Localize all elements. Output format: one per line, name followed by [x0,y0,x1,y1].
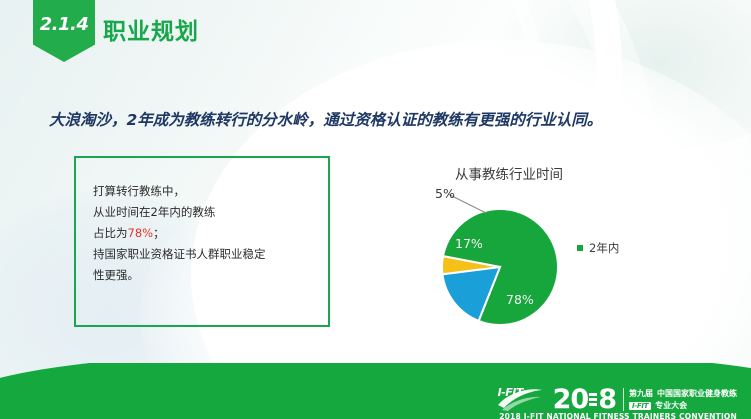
pie-data-label-1: 17% [455,236,483,251]
chart-title: 从事教练行业时间 [455,163,645,183]
footer-year: 20 8 [553,386,616,413]
pie-slices [442,209,558,325]
callout-line-5: 性更强。 [93,265,328,286]
footer-convention-en: 2018 I-FIT NATIONAL FITNESS TRAINERS CON… [499,412,737,419]
page-title: 职业规划 [103,12,199,46]
footer-convention-pill: I-FIT [629,402,651,410]
pie-data-label-0: 78% [506,292,534,307]
footer-convention-suffix: 专业大会 [655,400,687,411]
ifit-wordmark: I-FIT [498,386,523,399]
footer-logo-group: I-FIT 20 8 第九届 中国国家职业健身教练 I-FIT 专业大会 [494,381,737,413]
chart-legend: 2年内 [577,240,619,256]
pie-data-label-2: 5% [435,186,455,201]
footer-convention-row-2: I-FIT 专业大会 [629,400,737,411]
callout-line-3-prefix: 占比为 [93,226,128,240]
legend-swatch-icon [577,245,583,251]
footer-band: I-FIT 20 8 第九届 中国国家职业健身教练 I-FIT 专业大会 201… [0,363,751,419]
callout-text: 打算转行教练中， 从业时间在2年内的教练 占比为78%； 持国家职业资格证书人群… [93,181,328,286]
callout-line-1: 打算转行教练中， [93,181,328,202]
footer-convention-text: 第九届 中国国家职业健身教练 I-FIT 专业大会 [623,388,737,411]
footer-convention-row-1: 第九届 中国国家职业健身教练 [629,388,737,399]
slide-canvas: 2.1.4 职业规划 大浪淘沙，2年成为教练转行的分水岭，通过资格认证的教练有更… [0,0,751,419]
footer-convention-cn: 中国国家职业健身教练 [657,388,737,399]
footer-edition: 第九届 [629,388,653,399]
ifit-logo-icon: I-FIT [494,381,546,413]
callout-line-2: 从业时间在2年内的教练 [93,202,328,223]
footer-year-right: 8 [598,386,616,413]
callout-line-3-suffix: ； [153,226,165,240]
callout-line-3: 占比为78%； [93,223,328,244]
lead-statement: 大浪淘沙，2年成为教练转行的分水岭，通过资格认证的教练有更强的行业认同。 [49,108,739,130]
pie-chart [424,186,584,334]
callout-line-4: 持国家职业资格证书人群职业稳定 [93,244,328,265]
section-number: 2.1.4 [33,14,95,35]
pie-chart-svg [424,186,584,334]
footer-year-separator-icon [589,393,597,406]
callout-highlight-percent: 78% [128,226,154,240]
footer-year-left: 20 [553,386,589,413]
legend-label-0: 2年内 [589,240,619,256]
